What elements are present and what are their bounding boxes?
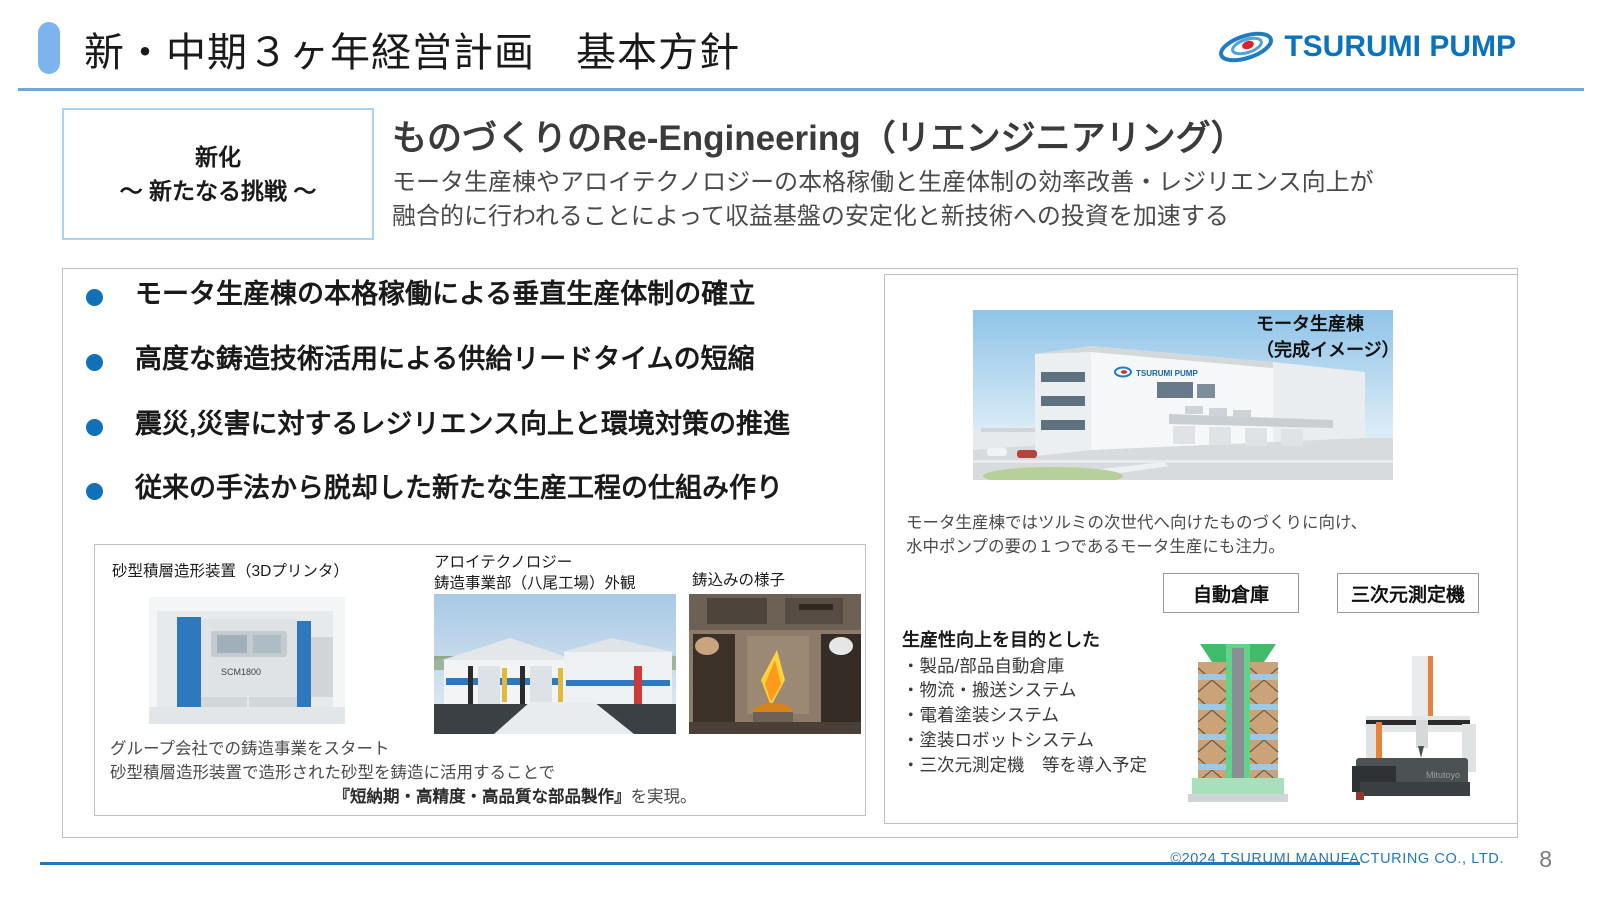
photo-3d-printer-graphic: SCM1800 — [149, 597, 345, 724]
foundry-note-line2: 砂型積層造形装置で造形された砂型を鋳造に活用することで — [110, 761, 850, 785]
productivity-list-item: ・物流・搬送システム — [902, 678, 1172, 703]
bullet-dot-icon — [86, 419, 103, 436]
foundry-note-tail: を実現。 — [631, 788, 697, 806]
foundry-note-line1: グループ会社での鋳造事業をスタート — [110, 737, 850, 761]
swirl-logo-icon — [1218, 30, 1274, 64]
bullet-text: 高度な鋳造技術活用による供給リードタイムの短縮 — [135, 343, 755, 377]
section-lede: モータ生産棟やアロイテクノロジーの本格稼働と生産体制の効率改善・レジリエンス向上… — [392, 166, 1512, 234]
footer-divider — [40, 862, 1360, 865]
photo-foundry-exterior — [434, 594, 676, 734]
header-divider — [18, 88, 1584, 91]
logo-word-pump: PUMP — [1429, 30, 1516, 63]
foundry-note: グループ会社での鋳造事業をスタート 砂型積層造形装置で造形された砂型を鋳造に活用… — [110, 737, 850, 809]
productivity-list-item: ・塗装ロボットシステム — [902, 728, 1172, 753]
slide-header: 新・中期３ヶ年経営計画 基本方針 TSURUMI PUMP — [0, 0, 1600, 90]
section-lede-line1: モータ生産棟やアロイテクノロジーの本格稼働と生産体制の効率改善・レジリエンス向上… — [392, 166, 1512, 200]
bullet-dot-icon — [86, 354, 103, 371]
photo-3d-printer: SCM1800 — [149, 597, 345, 724]
productivity-list-item: ・電着塗装システム — [902, 703, 1172, 728]
photo-pouring-graphic — [689, 594, 861, 734]
productivity-list-item: ・三次元測定機 等を導入予定 — [902, 753, 1172, 778]
motor-building-note-line1: モータ生産棟ではツルミの次世代へ向けたものづくりに向け、 — [906, 511, 1506, 535]
tag-cmm: 三次元測定機 — [1337, 573, 1479, 613]
foundry-note-highlight: 『短納期・高精度・高品質な部品製作』 — [334, 788, 631, 806]
bullet-text: 従来の手法から脱却した新たな生産工程の仕組み作り — [135, 472, 783, 506]
motor-building-label-line2: （完成イメージ） — [1256, 338, 1400, 364]
bullet-item: 高度な鋳造技術活用による供給リードタイムの短縮 — [86, 343, 886, 377]
productivity-list-item: ・製品/部品自動倉庫 — [902, 654, 1172, 679]
tag-automated-warehouse: 自動倉庫 — [1163, 573, 1299, 613]
theme-badge-line1: 新化 — [195, 140, 241, 175]
theme-badge-line2: 〜 新たなる挑戦 〜 — [120, 174, 317, 209]
title-accent-bar — [38, 22, 60, 74]
caption-foundry-exterior: アロイテクノロジー 鋳造事業部（八尾工場）外観 — [434, 553, 636, 595]
caption-foundry-line1: アロイテクノロジー — [434, 553, 636, 574]
productivity-list-heading: 生産性向上を目的とした — [902, 628, 1172, 654]
productivity-list: 生産性向上を目的とした ・製品/部品自動倉庫 ・物流・搬送システム ・電着塗装シ… — [902, 628, 1172, 778]
tsurumi-pump-logo: TSURUMI PUMP — [1218, 30, 1516, 64]
caption-3d-printer: 砂型積層造形装置（3Dプリンタ） — [112, 562, 349, 583]
photo-metal-pouring — [689, 594, 861, 734]
bullet-list: モータ生産棟の本格稼働による垂直生産体制の確立 高度な鋳造技術活用による供給リー… — [86, 278, 886, 537]
motor-building-label: モータ生産棟 （完成イメージ） — [1256, 312, 1400, 363]
bullet-text: モータ生産棟の本格稼働による垂直生産体制の確立 — [135, 278, 755, 312]
photo-cmm-machine: Mitutoyo — [1330, 650, 1490, 802]
bullet-dot-icon — [86, 289, 103, 306]
slide-root: 新・中期３ヶ年経営計画 基本方針 TSURUMI PUMP 新化 〜 新たなる挑… — [0, 0, 1600, 914]
bullet-item: 震災,災害に対するレジリエンス向上と環境対策の推進 — [86, 408, 886, 442]
bullet-item: 従来の手法から脱却した新たな生産工程の仕組み作り — [86, 472, 886, 506]
photo-cmm-graphic: Mitutoyo — [1330, 650, 1490, 802]
svg-text:TSURUMI PUMP: TSURUMI PUMP — [1136, 369, 1198, 378]
caption-pouring: 鋳込みの様子 — [692, 571, 785, 592]
svg-text:Mitutoyo: Mitutoyo — [1426, 770, 1460, 780]
theme-badge: 新化 〜 新たなる挑戦 〜 — [62, 108, 374, 240]
bullet-text: 震災,災害に対するレジリエンス向上と環境対策の推進 — [135, 408, 790, 442]
motor-building-note-line2: 水中ポンプの要の１つであるモータ生産にも注力。 — [906, 535, 1506, 559]
copyright-text: ©2024 TSURUMI MANUFACTURING CO., LTD. — [1170, 851, 1504, 867]
photo-foundry-graphic — [434, 594, 676, 734]
bullet-item: モータ生産棟の本格稼働による垂直生産体制の確立 — [86, 278, 886, 312]
bullet-dot-icon — [86, 483, 103, 500]
page-number: 8 — [1539, 846, 1552, 873]
svg-text:SCM1800: SCM1800 — [221, 667, 261, 677]
logo-wordmark: TSURUMI PUMP — [1284, 30, 1516, 64]
motor-building-label-line1: モータ生産棟 — [1256, 312, 1400, 338]
logo-word-tsurumi: TSURUMI — [1284, 30, 1421, 63]
page-title: 新・中期３ヶ年経営計画 基本方針 — [84, 20, 740, 78]
photo-automated-warehouse — [1186, 618, 1290, 806]
section-lede-line2: 融合的に行われることによって収益基盤の安定化と新技術への投資を加速する — [392, 200, 1512, 234]
foundry-note-line3: 『短納期・高精度・高品質な部品製作』を実現。 — [110, 785, 850, 809]
section-headline: ものづくりのRe-Engineering（リエンジニアリング） — [392, 110, 1246, 161]
motor-building-note: モータ生産棟ではツルミの次世代へ向けたものづくりに向け、 水中ポンプの要の１つで… — [906, 511, 1506, 559]
caption-foundry-line2: 鋳造事業部（八尾工場）外観 — [434, 574, 636, 595]
photo-warehouse-graphic — [1186, 618, 1290, 806]
